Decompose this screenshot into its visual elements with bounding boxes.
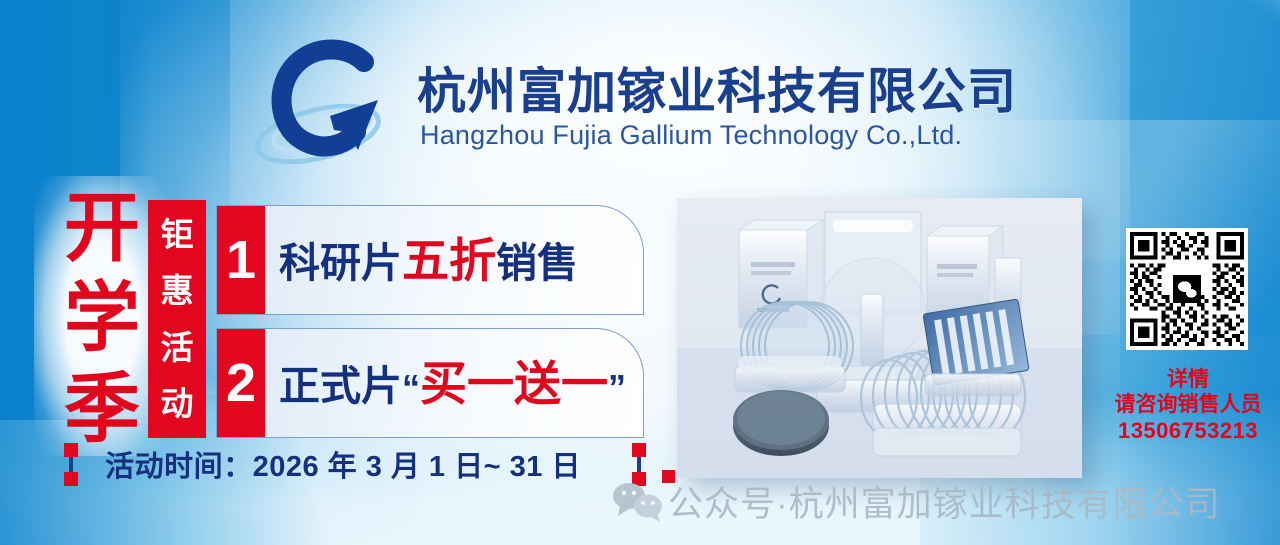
- wechat-icon: [612, 478, 668, 524]
- wechat-qr-code-icon[interactable]: [1126, 228, 1248, 350]
- watermark-text: 公众号·杭州富加镓业科技有限公司: [668, 476, 1221, 527]
- wechat-watermark: 公众号·杭州富加镓业科技有限公司: [612, 470, 1272, 532]
- season-char-2: 学: [64, 286, 140, 351]
- contact-line-2: 请咨询销售人员: [1098, 393, 1278, 418]
- company-name-cn: 杭州富加镓业科技有限公司: [417, 52, 1017, 123]
- campaign-char-3: 活: [161, 331, 194, 364]
- contact-phone: 13506753213: [1098, 418, 1278, 444]
- offer-1-highlight: 五折: [402, 234, 496, 287]
- offer-1-suffix: 销售: [496, 240, 578, 286]
- product-photo: [677, 198, 1082, 478]
- banner-header: 杭州富加镓业科技有限公司 Hangzhou Fujia Gallium Tech…: [0, 0, 1280, 185]
- offer-1-prefix: 科研片: [279, 240, 402, 286]
- gallium-g-arrow-logo-icon: [252, 34, 398, 174]
- offer-2-quote-open: “: [402, 367, 420, 408]
- campaign-char-1: 钜: [161, 218, 194, 251]
- campaign-date-text: 活动时间：2026 年 3 月 1 日~ 31 日: [87, 443, 623, 485]
- season-title-vertical: 开 学 季: [61, 196, 143, 442]
- campaign-label-vertical: 钜 惠 活 动: [148, 200, 206, 438]
- offer-card-2: 2 正式片“买一送一”: [216, 328, 644, 438]
- season-char-1: 开: [64, 196, 140, 261]
- offer-2-prefix: 正式片: [279, 363, 402, 409]
- i-bracket-left-icon: [55, 440, 87, 488]
- offer-2-quote-close: ”: [608, 367, 626, 408]
- promotional-banner: 杭州富加镓业科技有限公司 Hangzhou Fujia Gallium Tech…: [0, 0, 1280, 545]
- campaign-char-4: 动: [161, 387, 194, 420]
- campaign-date-row: 活动时间：2026 年 3 月 1 日~ 31 日: [55, 438, 655, 490]
- offer-2-highlight: 买一送一: [420, 357, 608, 410]
- offer-text-2: 正式片“买一送一”: [265, 360, 643, 407]
- offer-card-1: 1 科研片五折销售: [216, 205, 644, 315]
- campaign-char-2: 惠: [161, 274, 194, 307]
- season-char-3: 季: [64, 377, 140, 442]
- product-photo-illustration: [677, 198, 1082, 478]
- contact-line-1: 详情: [1098, 368, 1278, 393]
- offer-text-1: 科研片五折销售: [265, 237, 643, 284]
- company-name-en: Hangzhou Fujia Gallium Technology Co.,Lt…: [420, 120, 962, 151]
- contact-block: 详情 请咨询销售人员 13506753213: [1098, 368, 1278, 443]
- offer-number-badge-2: 2: [217, 329, 265, 437]
- offer-number-badge-1: 1: [217, 206, 265, 314]
